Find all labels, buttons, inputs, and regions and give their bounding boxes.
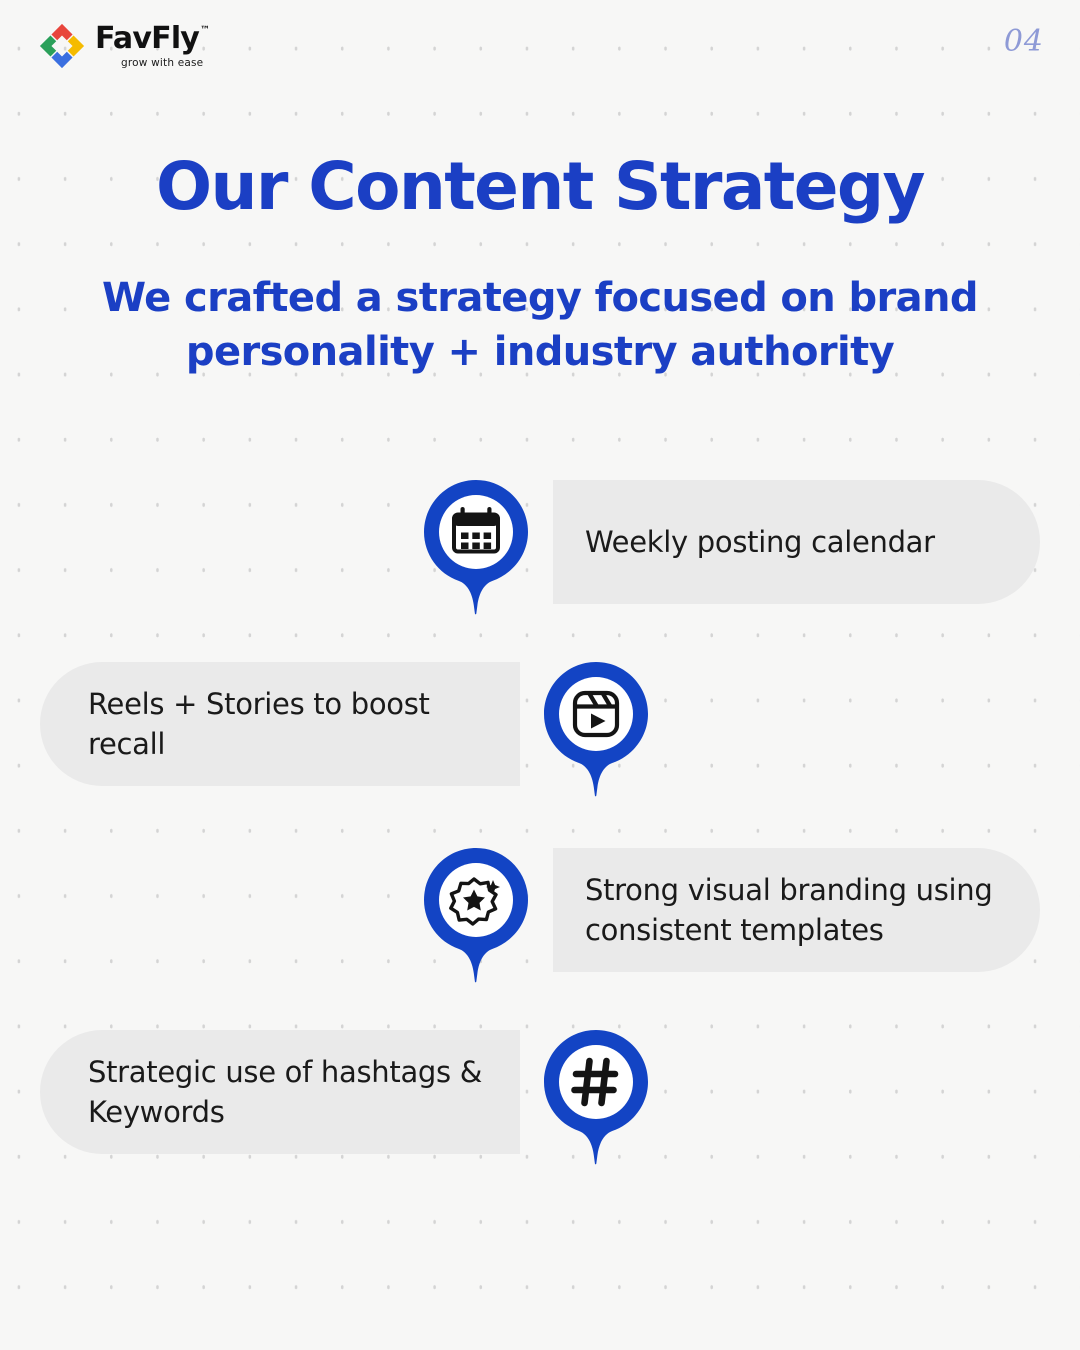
map-pin-marker[interactable] [544,662,648,810]
map-pin-marker[interactable] [544,1030,648,1178]
strategy-pill[interactable]: Strong visual branding using consistent … [553,848,1040,972]
strategy-label: Reels + Stories to boost recall [88,684,490,764]
strategy-label: Strategic use of hashtags & Keywords [88,1052,490,1132]
strategy-pill[interactable]: Strategic use of hashtags & Keywords [40,1030,520,1154]
slide-canvas: FavFly ™ grow with ease 04 Our Content S… [0,0,1080,1350]
map-pin-marker[interactable] [424,848,528,996]
strategy-label: Weekly posting calendar [585,522,935,562]
strategy-label: Strong visual branding using consistent … [585,870,996,950]
strategy-list: Weekly posting calendar [0,0,1080,1350]
strategy-pill[interactable]: Weekly posting calendar [553,480,1040,604]
strategy-pill[interactable]: Reels + Stories to boost recall [40,662,520,786]
map-pin-marker[interactable] [424,480,528,628]
